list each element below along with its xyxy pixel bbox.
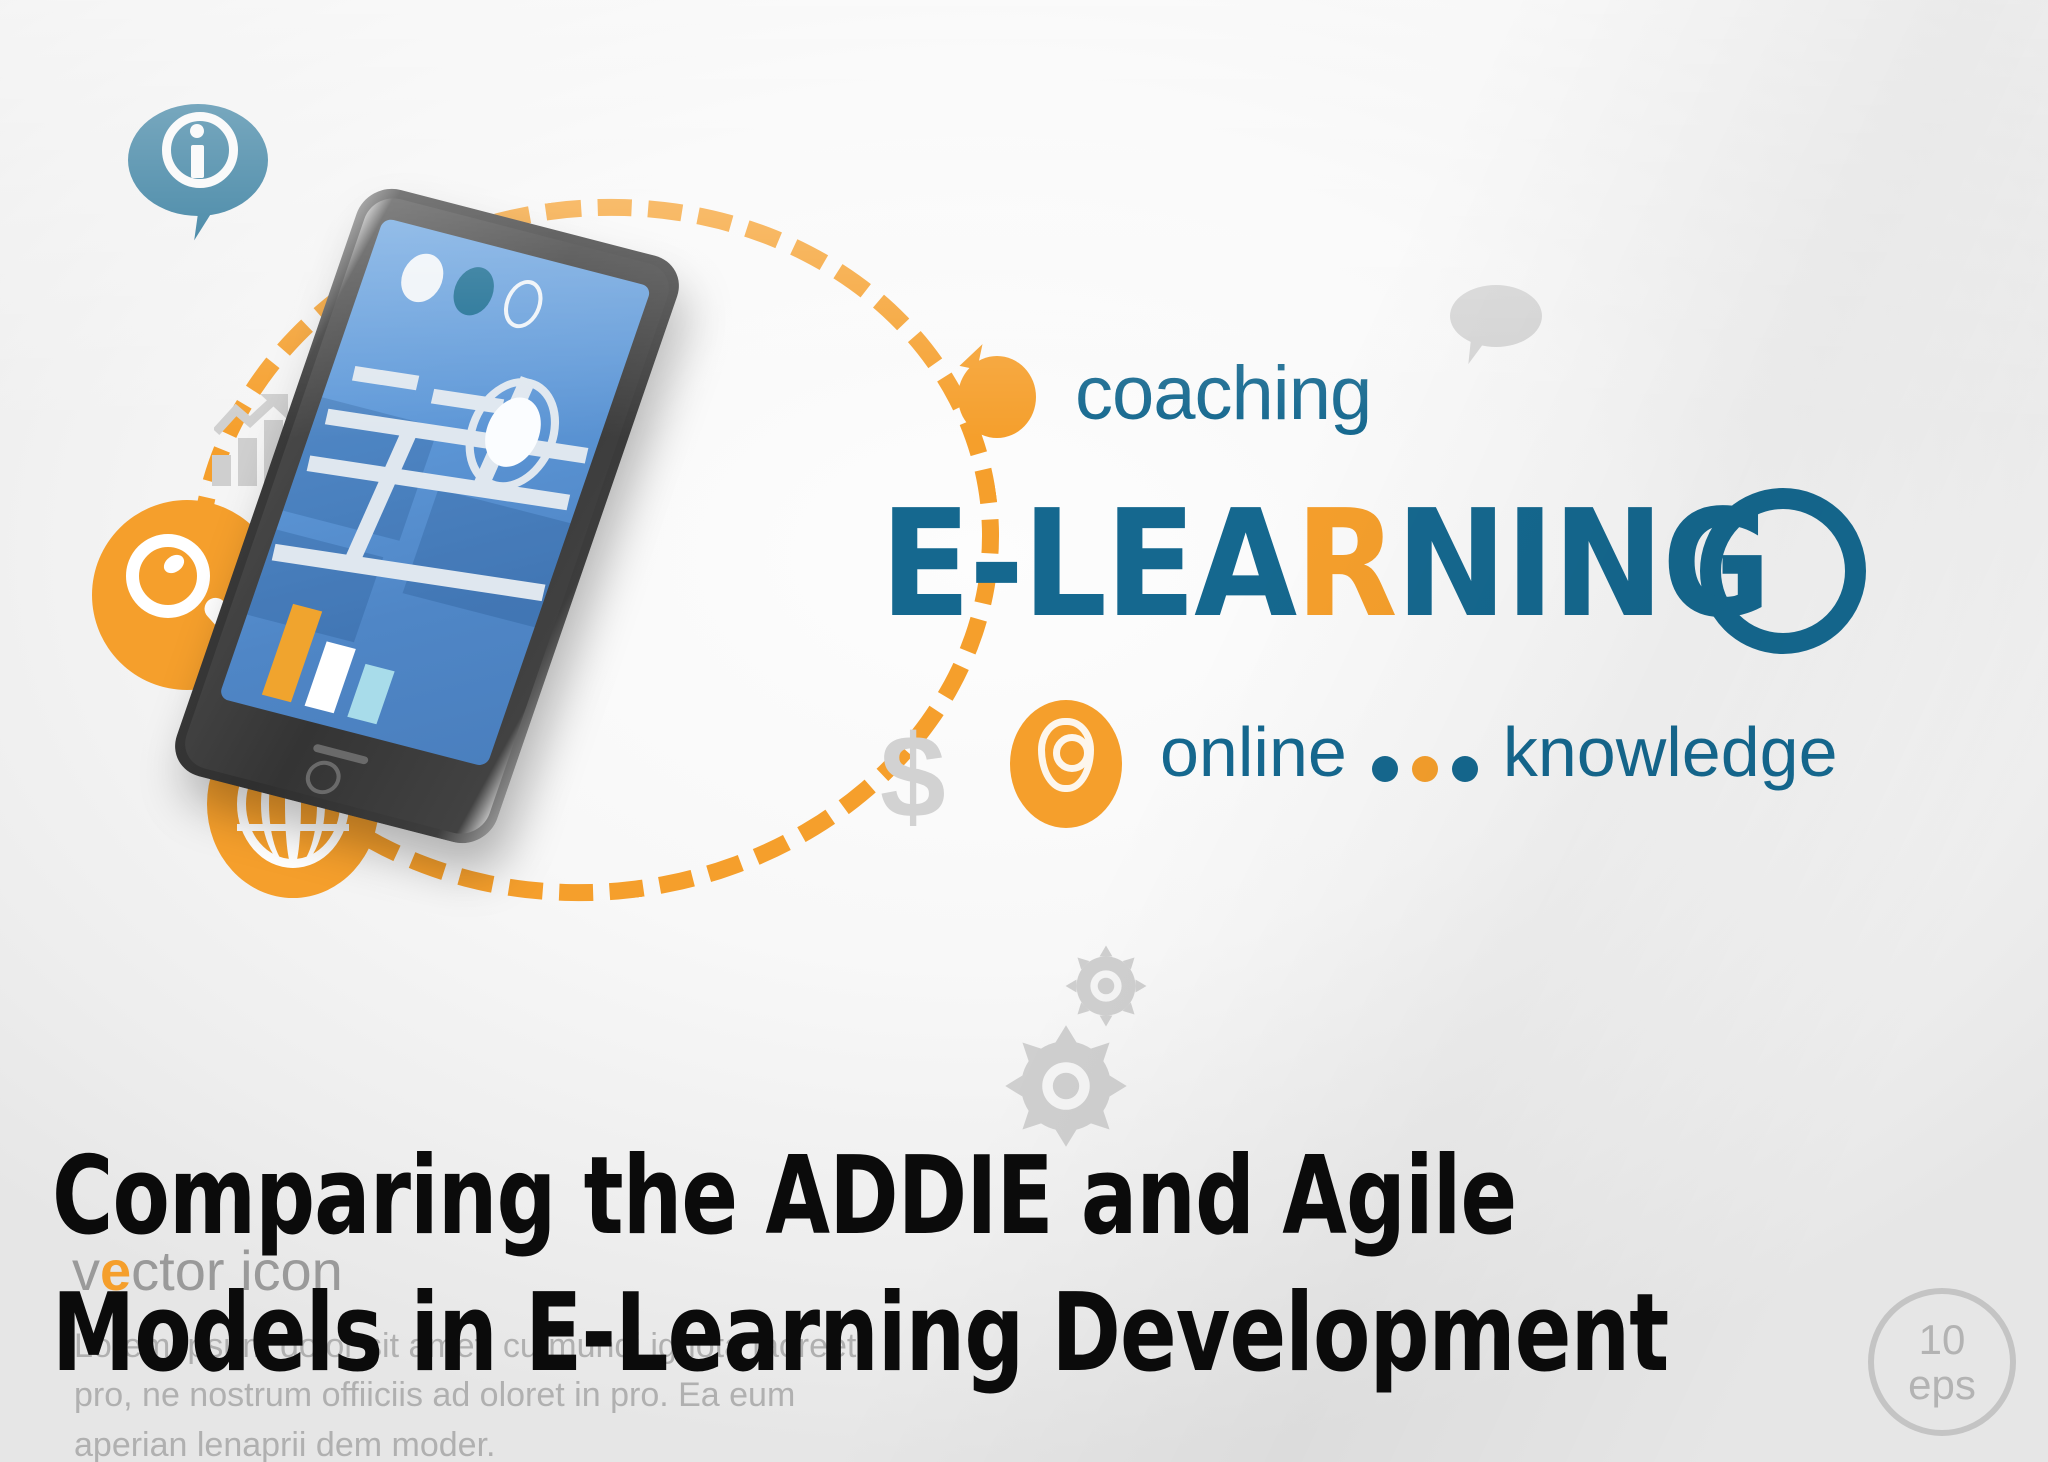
subtitle-row: onlineknowledge — [1160, 712, 1838, 798]
tablet-device-illustration — [262, 206, 742, 886]
screen-bar-chart — [262, 604, 439, 732]
dollar-currency-icon: $ — [880, 718, 946, 836]
e-learning-wordmark: E-LEARNING — [880, 490, 1769, 638]
dot-blue-1 — [1372, 756, 1398, 782]
knowledge-label: knowledge — [1503, 713, 1838, 791]
eps-unit: eps — [1908, 1362, 1976, 1407]
dot-orange — [1412, 756, 1438, 782]
chart-bar — [212, 455, 231, 486]
wordmark-prefix: E-LEA — [880, 478, 1295, 650]
online-label: online — [1160, 713, 1347, 791]
wordmark-accent-letter: R — [1295, 478, 1396, 650]
eps-number: 10 — [1919, 1317, 1966, 1362]
separator-dots — [1365, 718, 1485, 798]
chart-bar — [238, 438, 257, 486]
poster-canvas: $ coaching E-LEARNING onlineknowledg — [0, 0, 2048, 1462]
dot-blue-2 — [1452, 756, 1478, 782]
magnifier-lens — [126, 534, 210, 618]
page-title-line-1: Comparing the ADDIE and Agile — [52, 1128, 1686, 1265]
eps-version-badge: 10 eps — [1868, 1288, 2016, 1436]
screen-pill — [447, 263, 500, 320]
tablet-screen — [218, 218, 651, 768]
coaching-marker-dot — [958, 356, 1036, 438]
info-dot — [190, 124, 204, 138]
wordmark-suffix: NING — [1396, 478, 1770, 650]
screen-pill — [498, 276, 549, 332]
coaching-label: coaching — [1075, 350, 1371, 437]
page-title: Comparing the ADDIE and Agile Models in … — [52, 1128, 1686, 1402]
tablet-bezel — [178, 192, 677, 840]
screen-pill — [395, 249, 450, 306]
device-home-button[interactable] — [301, 757, 345, 798]
grey-bubble-body — [1450, 285, 1542, 347]
page-title-line-2: Models in E-Learning Development — [52, 1265, 1686, 1402]
info-stem — [191, 145, 204, 178]
